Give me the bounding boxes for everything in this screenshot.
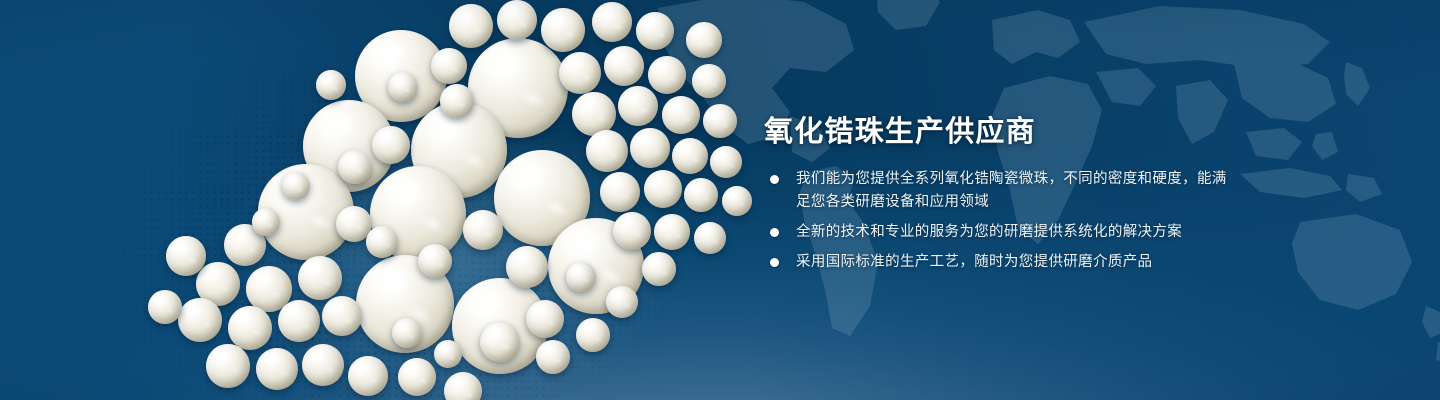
background-vignette	[0, 0, 1440, 400]
hero-banner: 氧化锆珠生产供应商 我们能为您提供全系列氧化锆陶瓷微珠，不同的密度和硬度，能满足…	[0, 0, 1440, 400]
